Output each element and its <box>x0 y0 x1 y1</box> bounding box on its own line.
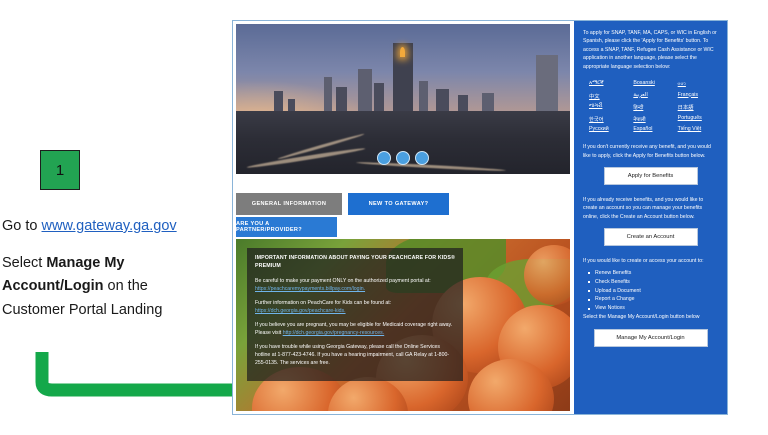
payment-portal-link[interactable]: https://peachcaremypayments.billpay.com/… <box>255 286 365 292</box>
account-actions-list: Renew Benefits Check Benefits Upload a D… <box>583 269 718 314</box>
step-number-badge: 1 <box>40 150 80 190</box>
apply-for-benefits-button[interactable]: Apply for Benefits <box>604 167 698 185</box>
hero-skyline-image <box>236 24 570 174</box>
language-link-korean[interactable]: 한국어 <box>589 115 629 123</box>
carousel-dot-1[interactable] <box>377 151 391 165</box>
language-link-hindi[interactable]: हिन्दी <box>633 103 673 111</box>
manage-my-account-login-button[interactable]: Manage My Account/Login <box>594 329 708 347</box>
manage-account-instruction-text: Select the Manage My Account/Login butto… <box>583 313 718 321</box>
peachcare-info-link[interactable]: https://dch.georgia.gov/peachcare-kids. <box>255 308 346 314</box>
tab-new-to-gateway[interactable]: NEW TO GATEWAY? <box>348 193 449 215</box>
manage-account-intro-text: If you would like to create or access yo… <box>583 257 718 265</box>
language-link-japanese[interactable]: 日本語 <box>678 103 718 111</box>
language-link-amharic[interactable]: አማርኛ <box>589 80 629 88</box>
list-item: View Notices <box>595 304 718 313</box>
language-link-russian[interactable]: Русский <box>589 126 629 132</box>
goto-instruction: Go to www.gateway.ga.gov <box>2 218 232 234</box>
tab-general-information[interactable]: GENERAL INFORMATION <box>236 193 342 215</box>
gateway-url-link[interactable]: www.gateway.ga.gov <box>42 218 177 234</box>
customer-portal-landing-label: Customer Portal Landing <box>2 302 162 318</box>
carousel-dot-2[interactable] <box>396 151 410 165</box>
notice-paragraph-payment: Be careful to make your payment ONLY on … <box>255 277 455 293</box>
notice-payment-text: Be careful to make your payment ONLY on … <box>255 278 431 284</box>
notice-paragraph-hotline: If you have trouble while using Georgia … <box>255 343 455 367</box>
gateway-portal-screenshot: GENERAL INFORMATION NEW TO GATEWAY? ARE … <box>232 20 728 415</box>
select-prefix-label: Select <box>2 255 46 271</box>
language-link-french[interactable]: Français <box>678 92 718 100</box>
list-item: Renew Benefits <box>595 269 718 278</box>
carousel-dot-3[interactable] <box>415 151 429 165</box>
panel-intro-text: To apply for SNAP, TANF, MA, CAPS, or WI… <box>583 29 718 71</box>
tab-are-you-a-partner-provider[interactable]: ARE YOU A PARTNER/PROVIDER? <box>236 217 337 237</box>
on-the-label: on the <box>104 278 148 294</box>
instruction-panel: 1 Go to www.gateway.ga.gov Select Manage… <box>0 0 232 435</box>
peach-background-image: IMPORTANT INFORMATION ABOUT PAYING YOUR … <box>236 239 570 411</box>
goto-prefix-label: Go to <box>2 218 42 234</box>
spacer <box>583 246 718 257</box>
building <box>358 69 372 117</box>
list-item: Upload a Document <box>595 287 718 296</box>
language-link-nepali[interactable]: नेपाली <box>633 115 673 123</box>
notice-paragraph-info: Further information on PeachCare for Kid… <box>255 299 455 315</box>
language-link-vietnamese[interactable]: Tiếng Việt <box>678 126 718 132</box>
pregnancy-resources-link[interactable]: http://dch.georgia.gov/pregnancy-resourc… <box>283 330 385 336</box>
language-link-bosanski[interactable]: Bosanski <box>633 80 673 88</box>
notice-paragraph-pregnancy: If you believe you are pregnant, you may… <box>255 321 455 337</box>
spacer <box>583 132 718 143</box>
list-item: Report a Change <box>595 295 718 304</box>
language-link-burmese[interactable]: ဗမာ <box>678 80 718 88</box>
language-link-chinese[interactable]: 中文 <box>589 92 629 100</box>
list-item: Check Benefits <box>595 278 718 287</box>
tower-spire-light <box>400 47 405 57</box>
notice-info-text: Further information on PeachCare for Kid… <box>255 300 391 306</box>
notice-title: IMPORTANT INFORMATION ABOUT PAYING YOUR … <box>255 255 455 271</box>
manage-my-bold-label: Manage My <box>46 255 124 271</box>
language-link-arabic[interactable]: العربية <box>633 92 673 100</box>
peachcare-notice-overlay: IMPORTANT INFORMATION ABOUT PAYING YOUR … <box>247 248 463 381</box>
apply-for-benefits-text: If you don't currently receive any benef… <box>583 143 718 160</box>
language-link-spanish[interactable]: Español <box>633 126 673 132</box>
portal-tab-row: GENERAL INFORMATION NEW TO GATEWAY? <box>236 193 570 215</box>
language-link-gujarati[interactable]: નાગરી <box>589 103 629 111</box>
language-selection-grid: አማርኛ Bosanski ဗမာ 中文 العربية Français ના… <box>589 80 718 132</box>
carousel-dots[interactable] <box>377 151 429 165</box>
create-an-account-button[interactable]: Create an Account <box>604 228 698 246</box>
portal-main-column: GENERAL INFORMATION NEW TO GATEWAY? ARE … <box>233 21 574 414</box>
apply-sidebar-panel: To apply for SNAP, TANF, MA, CAPS, or WI… <box>574 21 727 414</box>
spacer <box>583 185 718 196</box>
select-instruction: Select Manage My Account/Login on the Cu… <box>2 252 217 322</box>
language-link-portuguese[interactable]: Português <box>678 115 718 123</box>
account-login-bold-label: Account/Login <box>2 278 104 294</box>
step-number-label: 1 <box>56 163 64 178</box>
building <box>536 55 558 117</box>
create-account-text: If you already receive benefits, and you… <box>583 196 718 221</box>
